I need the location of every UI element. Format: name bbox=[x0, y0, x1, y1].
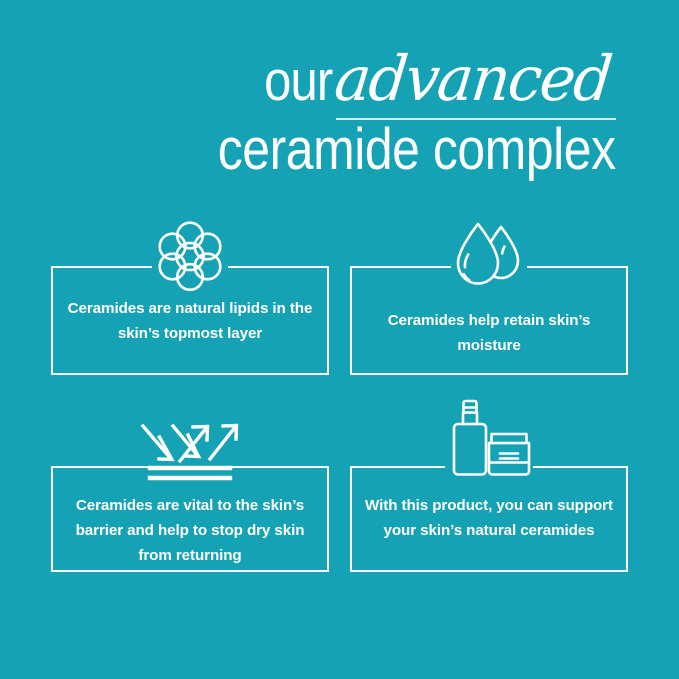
page-title: ouradvanced ceramide complex bbox=[0, 48, 679, 208]
card-text: Ceramides are natural lipids in the skin… bbox=[59, 296, 321, 346]
title-word-advanced: advanced bbox=[332, 48, 614, 110]
benefit-card-retain-moisture: Ceramides help retain skin’s moisture bbox=[350, 266, 628, 375]
title-line-2: ceramide complex bbox=[0, 121, 616, 179]
card-border-gap bbox=[148, 464, 232, 472]
benefit-card-grid: Ceramides are natural lipids in the skin… bbox=[51, 266, 628, 572]
title-word-advanced-wrapper: advanced bbox=[332, 48, 616, 110]
card-border-gap bbox=[451, 264, 527, 272]
card-border-gap bbox=[445, 464, 533, 472]
benefit-card-skin-barrier: Ceramides are vital to the skin’s barrie… bbox=[51, 466, 329, 572]
benefit-card-support-ceramides: With this product, you can support your … bbox=[350, 466, 628, 572]
title-line-1: ouradvanced bbox=[0, 48, 616, 110]
card-border-gap bbox=[152, 264, 228, 272]
benefit-card-natural-lipids: Ceramides are natural lipids in the skin… bbox=[51, 266, 329, 375]
barrier-deflection-icon bbox=[136, 420, 244, 482]
infographic-page: ouradvanced ceramide complex bbox=[0, 0, 679, 679]
card-text: Ceramides are vital to the skin’s barrie… bbox=[59, 493, 321, 568]
card-text: With this product, you can support your … bbox=[358, 493, 620, 543]
cell-cluster-icon bbox=[144, 221, 236, 289]
water-droplets-icon bbox=[446, 221, 532, 289]
title-line-2-text: ceramide complex bbox=[218, 121, 616, 179]
card-text: Ceramides help retain skin’s moisture bbox=[358, 308, 620, 358]
title-word-our: our bbox=[264, 53, 332, 110]
